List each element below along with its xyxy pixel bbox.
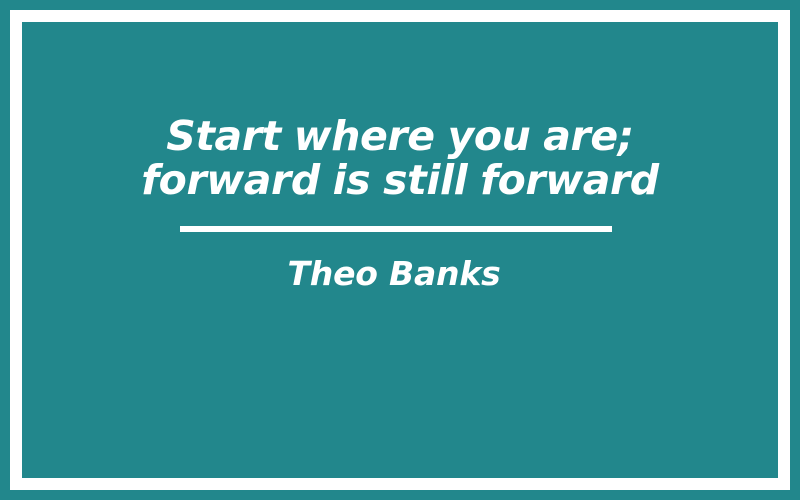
quote-card: Start where you are; forward is still fo…	[0, 0, 800, 500]
card-content: Start where you are; forward is still fo…	[22, 22, 778, 478]
divider-rule	[180, 226, 612, 232]
quote-text: Start where you are; forward is still fo…	[80, 114, 720, 202]
divider-container	[22, 226, 778, 232]
author-name: Theo Banks	[287, 255, 500, 293]
